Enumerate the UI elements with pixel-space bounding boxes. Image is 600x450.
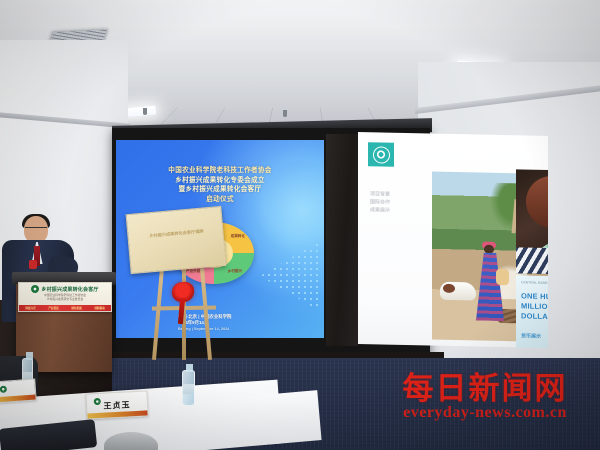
dress-shape <box>476 252 504 321</box>
slogan-item: 创新驱动 <box>94 306 104 310</box>
name-card-logo-icon <box>0 386 7 393</box>
podium-logo-icon <box>31 285 39 293</box>
podium-banner-slogan-strip: 科技兴农 产业富民 绿色发展 创新驱动 <box>19 305 111 311</box>
money-card-headline: ONE HUNDRED MILLION DOLLARS <box>521 291 548 322</box>
slogan-item: 绿色发展 <box>71 306 81 310</box>
institution-logo-icon <box>368 142 394 167</box>
podium-banner-subtitle: 中国农业科学院老科技工作者协会 乡村振兴成果转化专业委员会 <box>44 294 86 301</box>
conference-room-scene: 中国农业科学院老科技工作者协会 乡村振兴成果转化专委会成立 暨乡村振兴成果转化会… <box>0 0 600 450</box>
watermark-chinese: 每日新闻网 <box>374 372 596 406</box>
podium-subtitle-line-2: 乡村振兴成果转化专业委员会 <box>44 298 86 302</box>
money-card-note: 货币展示 <box>521 332 541 339</box>
watermark: 每日新闻网 everyday-news.com.cn <box>374 372 596 422</box>
cow-shape <box>440 282 476 301</box>
sprinkler-icon <box>143 108 147 115</box>
money-card-headline-line-3: DOLLARS <box>521 311 548 322</box>
watermark-url: everyday-news.com.cn <box>374 404 596 422</box>
slide-title-line-4: 启动仪式 <box>124 195 316 205</box>
slogan-item: 科技兴农 <box>25 306 35 310</box>
name-card <box>0 378 37 403</box>
podium-banner: 乡村振兴成果转化会客厅 中国农业科学院老科技工作者协会 乡村振兴成果转化专业委员… <box>18 282 112 312</box>
unveiling-plaque: 乡村振兴成果转化会客厅揭牌 <box>126 206 227 274</box>
money-card-caption: CENTRAL BANK <box>521 280 548 285</box>
donut-label: 乡村振兴 <box>228 269 242 273</box>
right-slide-white: 项目背景 国际合作 成果展示 <box>358 132 548 348</box>
slogan-item: 产业富民 <box>48 306 58 310</box>
hand-shape <box>526 176 548 229</box>
bundle-shape <box>496 269 509 285</box>
glasses-icon <box>25 227 47 231</box>
red-badge <box>29 260 37 269</box>
slide-title-line-1: 中国农业科学院老科技工作者协会 <box>124 166 316 176</box>
name-card: 王贞玉 <box>85 390 148 419</box>
donut-label: 成果转化 <box>231 234 245 238</box>
name-card-name: 王贞玉 <box>103 399 131 411</box>
slide-title-block: 中国农业科学院老科技工作者协会 乡村振兴成果转化专委会成立 暨乡村振兴成果转化会… <box>124 166 316 204</box>
easel-stand: 乡村振兴成果转化会客厅揭牌 <box>148 252 222 360</box>
woman-figure <box>476 244 504 321</box>
plaque-text: 乡村振兴成果转化会客厅揭牌 <box>140 228 212 240</box>
red-ribbon-flower <box>172 282 194 302</box>
logo-ring <box>373 146 390 163</box>
slide-title-line-2: 乡村振兴成果转化专委会成立 <box>124 176 316 186</box>
podium-banner-title: 乡村振兴成果转化会客厅 <box>41 286 98 293</box>
easel-leg <box>200 268 212 360</box>
wall-pillar-divider <box>326 134 358 346</box>
name-card-logo-icon <box>94 398 101 405</box>
podium-banner-title-row: 乡村振兴成果转化会客厅 <box>31 285 98 293</box>
slide-title-line-3: 暨乡村振兴成果转化会客厅 <box>124 185 316 195</box>
striped-shirt-shape <box>516 247 548 274</box>
sprinkler-icon <box>283 110 287 117</box>
money-info-card: CENTRAL BANK ONE HUNDRED MILLION DOLLARS… <box>516 275 548 348</box>
head-shape <box>484 245 494 254</box>
dot-matrix-decoration <box>260 242 318 310</box>
water-bottle <box>182 370 195 406</box>
easel-leg <box>152 268 164 360</box>
photo-hands-with-banknotes <box>516 169 548 274</box>
